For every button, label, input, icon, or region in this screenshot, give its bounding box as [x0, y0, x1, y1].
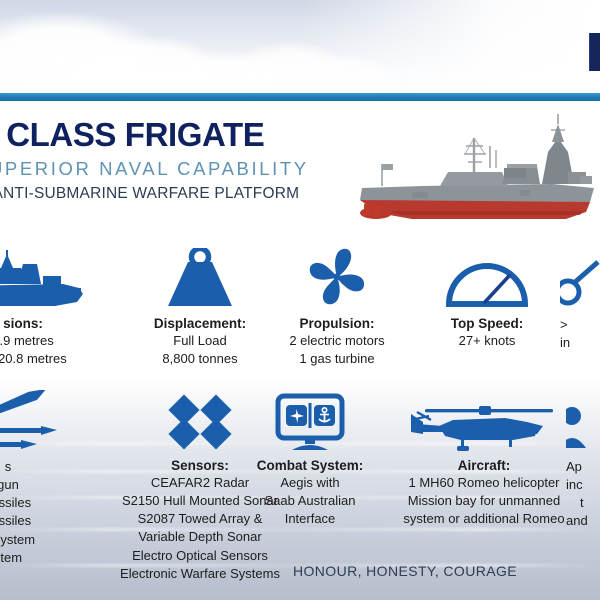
spec-line: > — [560, 316, 600, 333]
spec-dimensions: sions: 9.9 metres n - 20.8 metres — [0, 238, 108, 367]
spec-crew-cropped: Ap inc t and — [566, 388, 600, 530]
combat-monitor-icon — [236, 388, 384, 452]
spec-title: Propulsion: — [256, 316, 418, 331]
spec-line: missiles — [0, 512, 88, 529]
spec-line: Interface — [236, 510, 384, 527]
spec-line: 27+ knots — [412, 332, 562, 349]
spec-combat-system: Combat System: Aegis with Saab Australia… — [236, 388, 384, 527]
propeller-icon — [256, 238, 418, 310]
motto-text: HONOUR, HONESTY, COURAGE — [0, 563, 600, 579]
header-divider-band — [0, 93, 600, 101]
spec-line: Ap — [566, 458, 600, 475]
spec-line: 1 gas turbine — [256, 350, 418, 367]
tagline: SUPERIOR NAVAL CAPABILITY — [0, 158, 330, 180]
spec-line: Saab Australian — [236, 492, 384, 509]
range-icon-cropped — [560, 238, 600, 310]
helicopter-icon — [370, 388, 598, 452]
spec-title: sions: — [0, 316, 108, 331]
spec-line: n System — [0, 531, 88, 548]
spec-title: Top Speed: — [412, 316, 562, 331]
sub-tagline: W ANTI-SUBMARINE WARFARE PLATFORM — [0, 185, 330, 203]
spec-top-speed: Top Speed: 27+ knots — [412, 238, 562, 349]
spec-line: Mission bay for unmanned — [370, 492, 598, 509]
spec-line: n - 20.8 metres — [0, 350, 108, 367]
spec-line: t — [566, 494, 600, 511]
page-title: R CLASS FRIGATE — [0, 118, 330, 152]
spec-armament-cropped: s gun missiles missiles n System stem — [0, 388, 88, 566]
spec-line: and — [566, 512, 600, 529]
spec-aircraft: Aircraft: 1 MH60 Romeo helicopter Missio… — [370, 388, 598, 527]
spec-line: s — [0, 458, 88, 475]
spec-title: Aircraft: — [370, 458, 598, 473]
spec-range-cropped: > in — [560, 238, 600, 351]
spec-line: inc — [566, 476, 600, 493]
title-block: R CLASS FRIGATE SUPERIOR NAVAL CAPABILIT… — [0, 118, 330, 203]
spec-propulsion: Propulsion: 2 electric motors 1 gas turb… — [256, 238, 418, 367]
spec-line: missiles — [0, 494, 88, 511]
spec-line: 1 MH60 Romeo helicopter — [370, 474, 598, 491]
spec-line: Variable Depth Sonar — [80, 528, 320, 545]
specs-row-primary: sions: 9.9 metres n - 20.8 metres Displa… — [0, 238, 600, 378]
specs-row-secondary: s gun missiles missiles n System stem Se… — [0, 388, 600, 578]
ship-illustration — [352, 112, 600, 230]
speedometer-icon — [412, 238, 562, 310]
spec-title: Combat System: — [236, 458, 384, 473]
missile-icon — [0, 388, 88, 452]
spec-line: in — [560, 334, 600, 351]
spec-line: 2 electric motors — [256, 332, 418, 349]
spec-line: 9.9 metres — [0, 332, 108, 349]
spec-line: system or additional Romeo — [370, 510, 598, 527]
spec-line: Aegis with — [236, 474, 384, 491]
corner-accent-bar — [589, 33, 600, 71]
sky-right-fade — [300, 0, 600, 94]
crew-icon-cropped — [566, 388, 600, 452]
spec-line: gun — [0, 476, 88, 493]
spec-line: Electro Optical Sensors — [80, 547, 320, 564]
ship-silhouette-icon — [0, 238, 108, 310]
